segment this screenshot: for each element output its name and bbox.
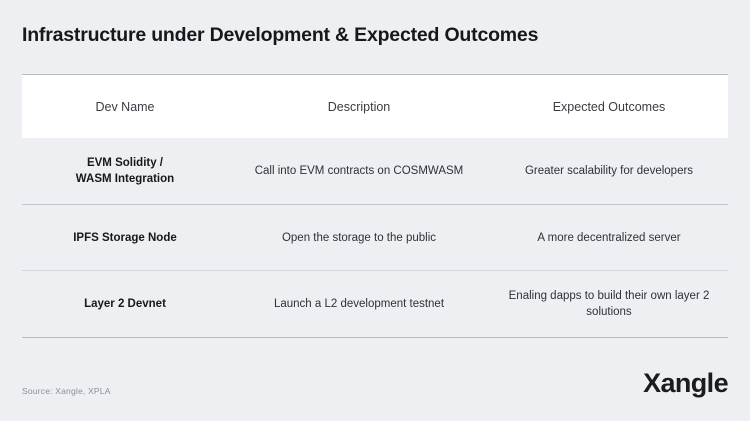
cell-description: Call into EVM contracts on COSMWASM [228,163,490,179]
cell-expected-outcomes: Greater scalability for developers [490,163,728,179]
cell-dev-name: EVM Solidity / WASM Integration [22,155,228,187]
cell-description: Launch a L2 development testnet [228,296,490,312]
table-row: EVM Solidity / WASM Integration Call int… [22,138,728,204]
table-row: IPFS Storage Node Open the storage to th… [22,204,728,270]
cell-expected-outcomes: Enaling dapps to build their own layer 2… [490,288,728,320]
column-header-expected-outcomes: Expected Outcomes [490,100,728,114]
table-row: Layer 2 Devnet Launch a L2 development t… [22,270,728,337]
cell-dev-name: Layer 2 Devnet [22,296,228,312]
cell-dev-name: IPFS Storage Node [22,230,228,246]
slide-container: Infrastructure under Development & Expec… [0,0,750,421]
cell-dev-name-line2: WASM Integration [76,173,174,185]
xangle-logo: Xangle [643,368,728,398]
column-header-description: Description [228,100,490,114]
source-note: Source: Xangle, XPLA [22,386,111,396]
cell-dev-name-line1: EVM Solidity / [87,157,163,169]
infrastructure-table: Dev Name Description Expected Outcomes E… [22,74,728,338]
cell-description: Open the storage to the public [228,230,490,246]
table-header-row: Dev Name Description Expected Outcomes [22,75,728,138]
column-header-dev-name: Dev Name [22,100,228,114]
cell-expected-outcomes: A more decentralized server [490,230,728,246]
page-title: Infrastructure under Development & Expec… [22,24,538,47]
